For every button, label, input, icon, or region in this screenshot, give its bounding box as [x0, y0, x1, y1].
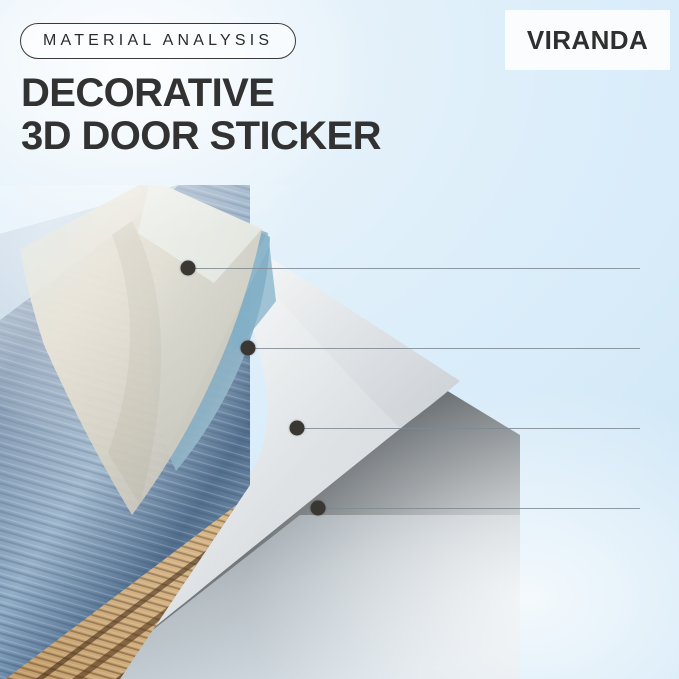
material-analysis-badge: MATERIAL ANALYSIS	[20, 23, 296, 59]
page-title: DECORATIVE 3D DOOR STICKER	[21, 72, 381, 158]
title-line-2: 3D DOOR STICKER	[21, 115, 381, 158]
callout-dot-3[interactable]	[290, 421, 305, 436]
peeling-sticker-graphic	[0, 185, 520, 679]
leader-line-4	[318, 508, 640, 509]
product-illustration	[0, 185, 520, 679]
callout-dot-2[interactable]	[241, 341, 256, 356]
badge-label: MATERIAL ANALYSIS	[43, 32, 273, 50]
leader-line-3	[297, 428, 640, 429]
callout-dot-4[interactable]	[311, 501, 326, 516]
leader-line-1	[188, 268, 640, 269]
title-line-1: DECORATIVE	[21, 71, 274, 115]
callout-dot-1[interactable]	[181, 261, 196, 276]
brand-name: VIRANDA	[527, 25, 648, 56]
infographic-canvas: MATERIAL ANALYSIS DECORATIVE 3D DOOR STI…	[0, 0, 679, 679]
brand-logo-box: VIRANDA	[505, 10, 670, 70]
leader-line-2	[248, 348, 640, 349]
